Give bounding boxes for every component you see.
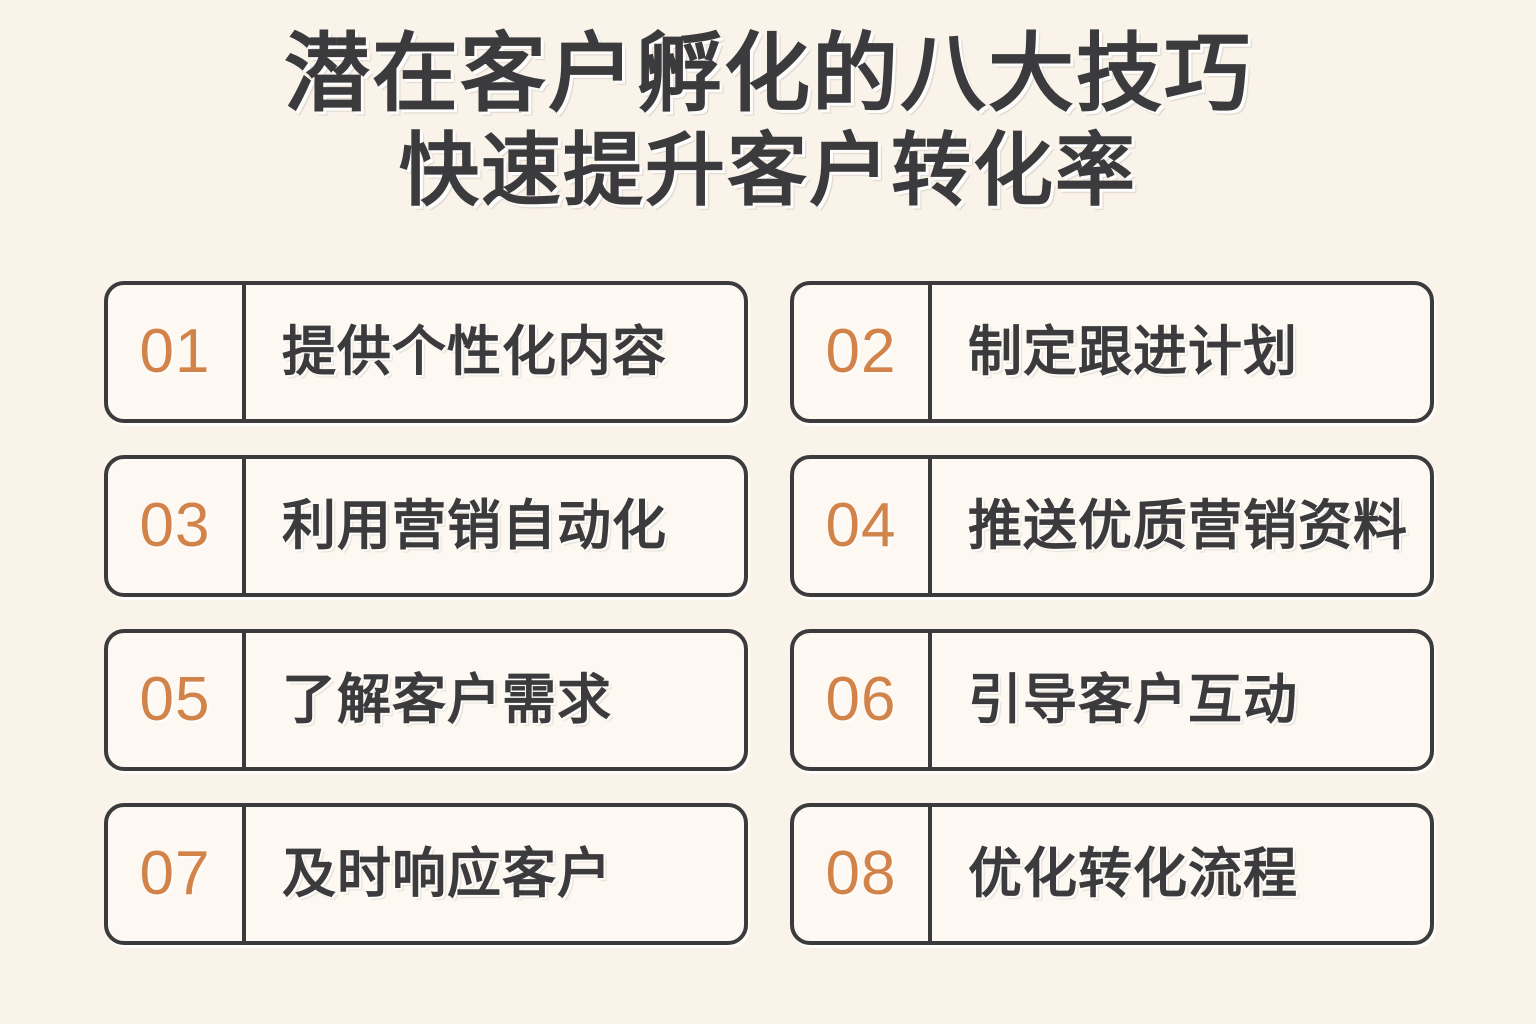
poster-title-block: 潜在客户孵化的八大技巧 快速提升客户转化率: [0, 26, 1536, 216]
tip-label-08: 优化转化流程: [968, 846, 1298, 903]
tip-number-cell-08: 08: [794, 807, 932, 941]
tip-body-cell-07: 及时响应客户: [246, 807, 744, 941]
tip-body-cell-02: 制定跟进计划: [932, 285, 1430, 419]
tip-number-01: 01: [140, 321, 211, 383]
tip-number-cell-07: 07: [108, 807, 246, 941]
tip-number-04: 04: [826, 495, 897, 557]
poster-title-line-2: 快速提升客户转化率: [0, 126, 1536, 216]
tip-label-02: 制定跟进计划: [968, 324, 1298, 381]
tip-card-03: 03 利用营销自动化: [104, 455, 748, 597]
tip-number-cell-02: 02: [794, 285, 932, 419]
tip-number-08: 08: [826, 843, 897, 905]
tip-body-cell-08: 优化转化流程: [932, 807, 1430, 941]
tip-number-cell-01: 01: [108, 285, 246, 419]
tip-label-04: 推送优质营销资料: [968, 498, 1408, 555]
tip-label-03: 利用营销自动化: [282, 498, 667, 555]
tip-card-02: 02 制定跟进计划: [790, 281, 1434, 423]
tip-card-06: 06 引导客户互动: [790, 629, 1434, 771]
tip-card-07: 07 及时响应客户: [104, 803, 748, 945]
tips-card-grid: 01 提供个性化内容 02 制定跟进计划 03 利用营销自动化 04: [104, 281, 1434, 945]
tip-number-07: 07: [140, 843, 211, 905]
poster-title-line-1: 潜在客户孵化的八大技巧: [0, 26, 1536, 122]
tip-number-06: 06: [826, 669, 897, 731]
tip-number-cell-04: 04: [794, 459, 932, 593]
tip-label-05: 了解客户需求: [282, 672, 612, 729]
tip-label-06: 引导客户互动: [968, 672, 1298, 729]
tip-number-cell-03: 03: [108, 459, 246, 593]
tip-body-cell-03: 利用营销自动化: [246, 459, 744, 593]
tip-card-05: 05 了解客户需求: [104, 629, 748, 771]
tip-number-03: 03: [140, 495, 211, 557]
tip-body-cell-06: 引导客户互动: [932, 633, 1430, 767]
tip-number-cell-06: 06: [794, 633, 932, 767]
tip-body-cell-05: 了解客户需求: [246, 633, 744, 767]
tip-number-05: 05: [140, 669, 211, 731]
tip-number-02: 02: [826, 321, 897, 383]
tip-label-01: 提供个性化内容: [282, 324, 667, 381]
tip-body-cell-01: 提供个性化内容: [246, 285, 744, 419]
tip-card-01: 01 提供个性化内容: [104, 281, 748, 423]
tip-card-08: 08 优化转化流程: [790, 803, 1434, 945]
tip-body-cell-04: 推送优质营销资料: [932, 459, 1430, 593]
infographic-poster: 潜在客户孵化的八大技巧 快速提升客户转化率 01 提供个性化内容 02 制定跟进…: [0, 0, 1536, 1024]
tip-number-cell-05: 05: [108, 633, 246, 767]
tip-card-04: 04 推送优质营销资料: [790, 455, 1434, 597]
tip-label-07: 及时响应客户: [282, 846, 612, 903]
